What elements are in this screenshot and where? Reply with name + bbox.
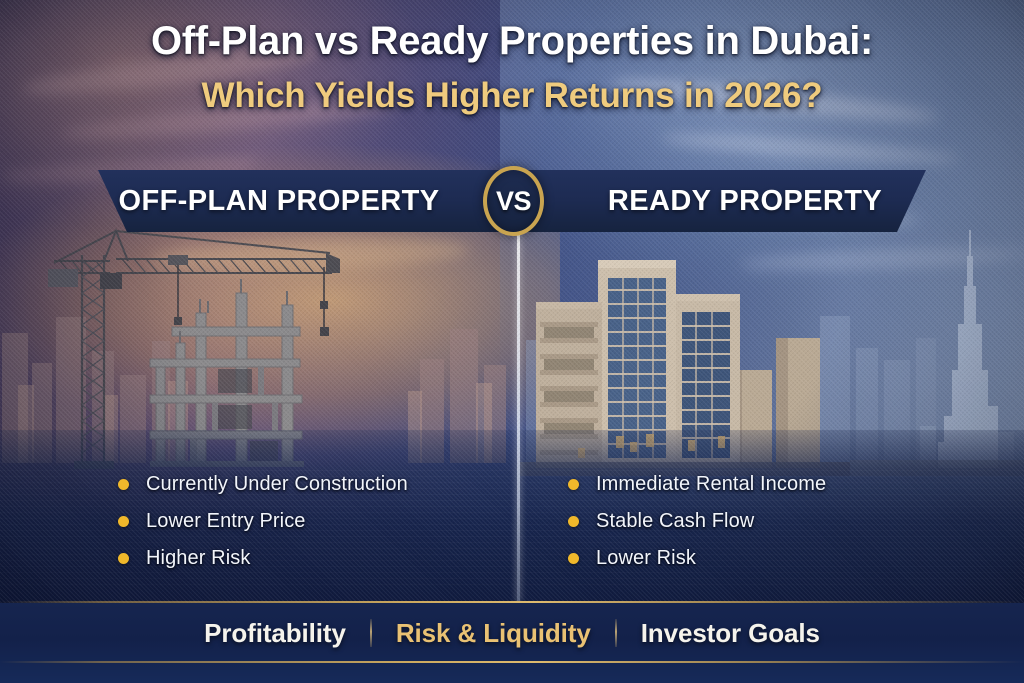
infographic-poster: Off-Plan vs Ready Properties in Dubai: W… — [0, 0, 1024, 683]
bullet-dot-icon — [118, 479, 129, 490]
bullet-label: Immediate Rental Income — [596, 473, 826, 496]
list-item: Stable Cash Flow — [568, 503, 960, 540]
bullet-label: Lower Entry Price — [146, 510, 306, 533]
vs-badge: VS — [483, 166, 544, 236]
bullet-label: Lower Risk — [596, 547, 696, 570]
bullet-label: Higher Risk — [146, 547, 250, 570]
footer-item-profitability: Profitability — [204, 618, 346, 649]
banner-left-half: OFF-PLAN PROPERTY — [98, 170, 512, 232]
footer-separator — [615, 619, 617, 647]
list-item: Higher Risk — [118, 540, 510, 577]
page-subtitle: Which Yields Higher Returns in 2026? — [0, 75, 1024, 116]
off-plan-bullet-list: Currently Under Construction Lower Entry… — [118, 466, 510, 577]
footer-rule-top — [0, 601, 1024, 603]
bullet-label: Stable Cash Flow — [596, 510, 754, 533]
banner-label-ready: READY PROPERTY — [608, 185, 882, 218]
list-item: Immediate Rental Income — [568, 466, 960, 503]
bullet-label: Currently Under Construction — [146, 473, 408, 496]
bullet-dot-icon — [118, 553, 129, 564]
banner-label-off-plan: OFF-PLAN PROPERTY — [119, 185, 440, 218]
list-item: Currently Under Construction — [118, 466, 510, 503]
page-title: Off-Plan vs Ready Properties in Dubai: — [0, 18, 1024, 65]
ready-property-bullet-list: Immediate Rental Income Stable Cash Flow… — [568, 466, 960, 577]
tower-crane — [40, 225, 460, 345]
bullet-dot-icon — [568, 553, 579, 564]
bullet-dot-icon — [568, 516, 579, 527]
footer-separator — [370, 619, 372, 647]
footer-rule-bottom — [0, 661, 1024, 663]
center-divider — [517, 228, 520, 603]
bullet-dot-icon — [118, 516, 129, 527]
footer-item-investor-goals: Investor Goals — [641, 618, 820, 649]
bullet-dot-icon — [568, 479, 579, 490]
footer-topic-list: Profitability Risk & Liquidity Investor … — [0, 608, 1024, 658]
list-item: Lower Entry Price — [118, 503, 510, 540]
footer-item-risk-liquidity: Risk & Liquidity — [396, 618, 591, 649]
list-item: Lower Risk — [568, 540, 960, 577]
title-block: Off-Plan vs Ready Properties in Dubai: W… — [0, 18, 1024, 116]
vs-badge-label: VS — [496, 186, 531, 217]
banner-right-half: READY PROPERTY — [512, 170, 926, 232]
